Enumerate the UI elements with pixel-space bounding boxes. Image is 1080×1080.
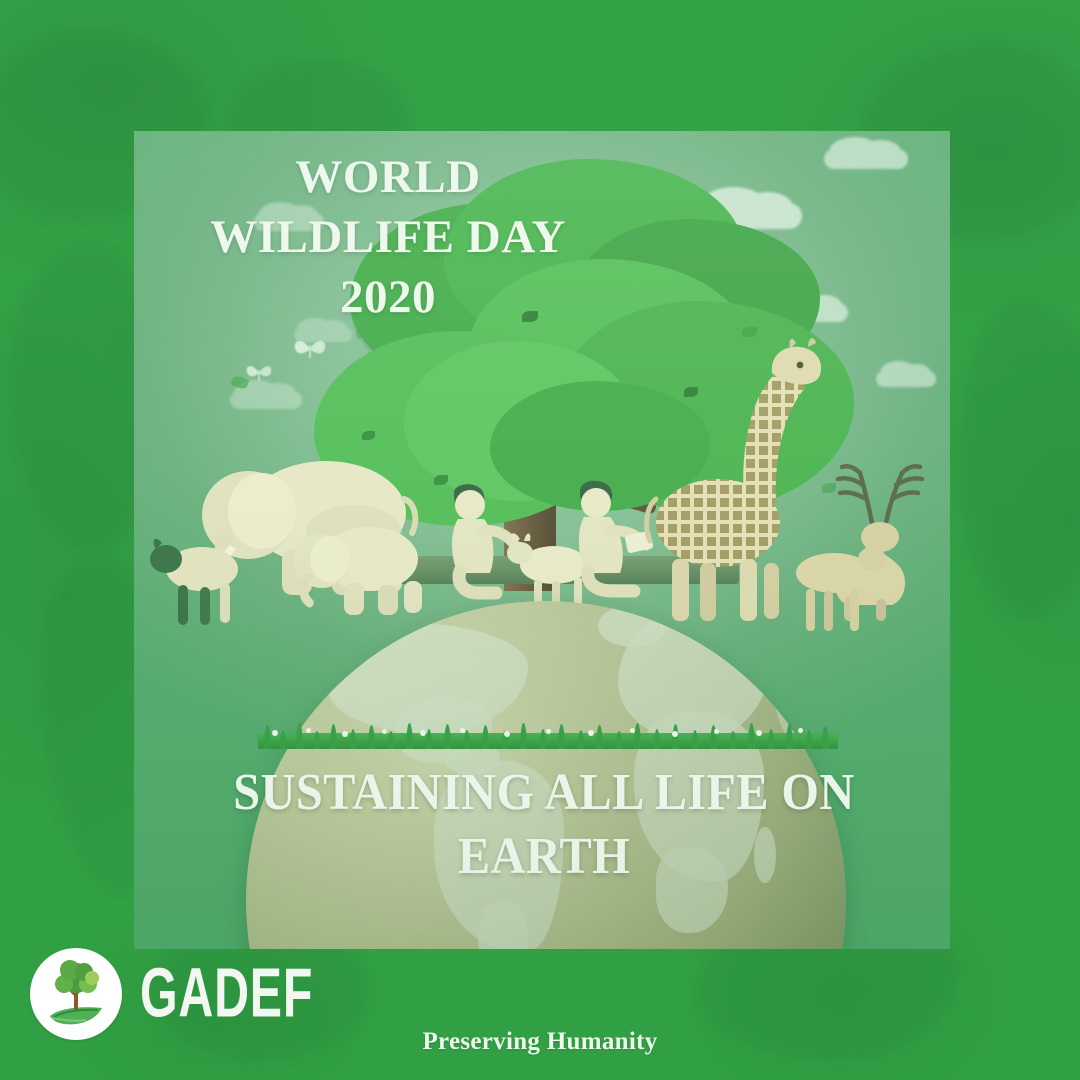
poster-canvas: WORLD WILDLIFE DAY 2020 SUSTAINING ALL L… xyxy=(0,0,1080,1080)
brand-slogan: Preserving Humanity xyxy=(0,1028,1080,1056)
tagline: SUSTAINING ALL LIFE ON EARTH xyxy=(200,761,888,890)
cloud-shape xyxy=(876,371,936,387)
tagline-line-2: EARTH xyxy=(200,825,888,889)
butterfly-icon xyxy=(292,335,328,363)
continent-shape xyxy=(478,901,528,949)
butterfly-icon xyxy=(244,361,274,385)
grass-strip xyxy=(258,721,838,749)
fawn-illustration xyxy=(772,531,892,641)
small-animal-illustration xyxy=(144,529,254,639)
headline-line-3: 2020 xyxy=(158,267,618,327)
tree-in-hand-icon xyxy=(30,948,122,1040)
page-title: WORLD WILDLIFE DAY 2020 xyxy=(158,147,618,327)
tagline-line-1: SUSTAINING ALL LIFE ON xyxy=(200,761,888,825)
baby-elephant-illustration xyxy=(284,511,434,621)
artwork-panel: WORLD WILDLIFE DAY 2020 SUSTAINING ALL L… xyxy=(134,131,950,949)
leaf-accent xyxy=(362,431,375,440)
cloud-shape xyxy=(824,149,908,169)
world-map-shape xyxy=(960,300,1080,620)
headline-line-2: WILDLIFE DAY xyxy=(158,207,618,267)
brand-name: GADEF xyxy=(140,961,313,1028)
brand-lockup: GADEF xyxy=(30,948,362,1040)
continent-shape xyxy=(328,623,528,733)
continent-shape xyxy=(598,605,668,647)
headline-line-1: WORLD xyxy=(158,147,618,207)
